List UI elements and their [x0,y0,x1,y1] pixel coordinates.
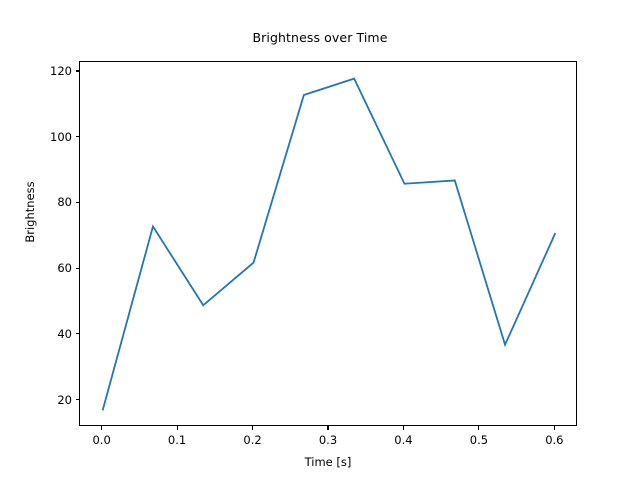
y-tick-label: 80 [30,195,72,209]
x-tick-label: 0.1 [147,433,207,447]
y-tick-label: 120 [30,64,72,78]
data-line-series [80,62,578,427]
x-tick-label: 0.3 [298,433,358,447]
plot-area [79,61,577,426]
y-tick-label: 60 [30,261,72,275]
x-tick-label: 0.4 [373,433,433,447]
chart-figure: Brightness over Time Brightness Time [s]… [0,0,640,480]
y-tick-label: 20 [30,393,72,407]
y-tick-label: 100 [30,130,72,144]
x-tick-label: 0.6 [524,433,584,447]
y-tick-label: 40 [30,327,72,341]
x-tick-label: 0.5 [449,433,509,447]
x-axis-label: Time [s] [79,455,577,469]
chart-title: Brightness over Time [0,30,640,45]
brightness-line [103,79,556,411]
x-tick-label: 0.2 [223,433,283,447]
x-tick-label: 0.0 [72,433,132,447]
